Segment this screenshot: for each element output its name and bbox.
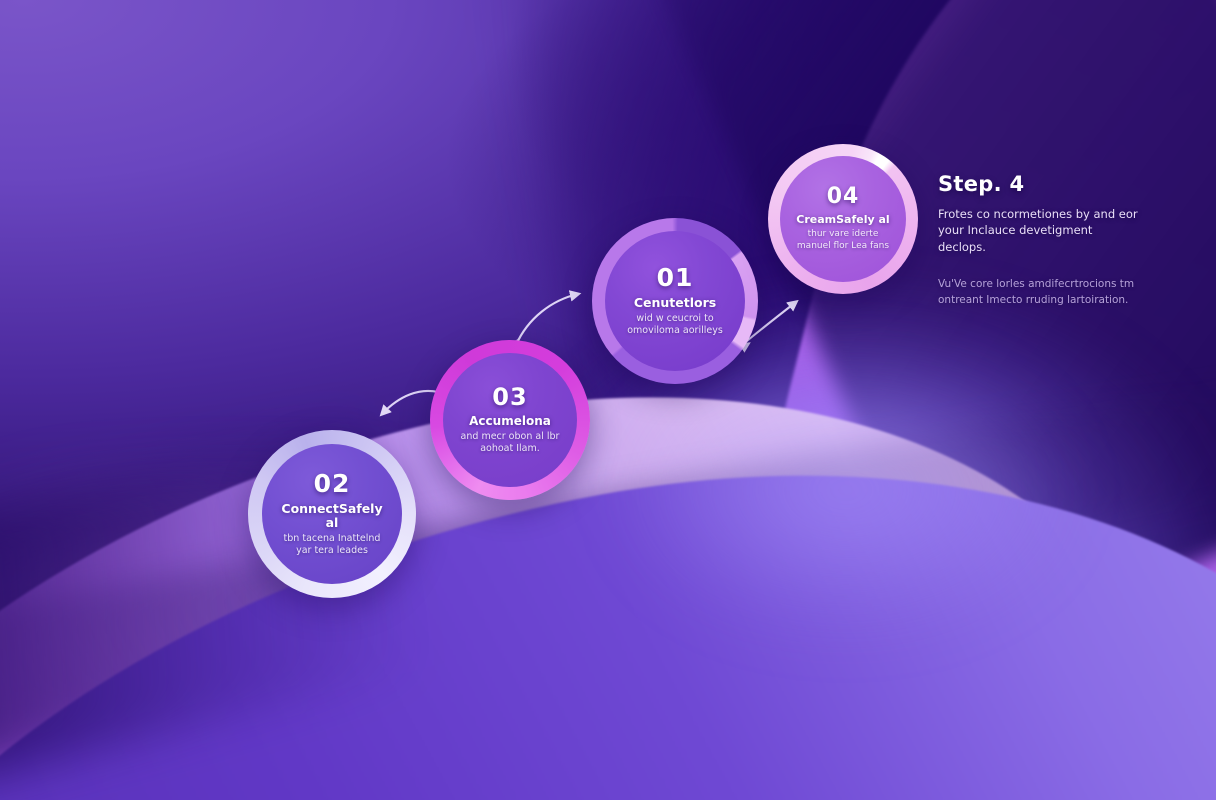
step-detail-note: Vu'Ve core lorles amdifecrtrocions tm on…	[938, 277, 1138, 308]
step-node-04-title: CreamSafely al	[796, 214, 889, 226]
step-node-02-desc: tbn tacena Inattelnd yar tera leades	[276, 533, 388, 557]
step-detail-panel: Step. 4 Frotes co ncormetiones by and eo…	[938, 172, 1138, 308]
step-node-01[interactable]: 01 Cenutetlors wid w ceucroi to omovilom…	[592, 218, 758, 384]
step-node-01-inner: 01 Cenutetlors wid w ceucroi to omovilom…	[605, 231, 745, 371]
step-node-02-inner: 02 ConnectSafely al tbn tacena Inattelnd…	[262, 444, 402, 584]
step-node-03-title: Accumelona	[469, 415, 551, 428]
step-node-01-number: 01	[657, 265, 694, 290]
infographic-canvas: 02 ConnectSafely al tbn tacena Inattelnd…	[0, 0, 1216, 800]
step-node-04-number: 04	[827, 186, 860, 208]
step-node-04[interactable]: 04 CreamSafely al thur vare iderte manue…	[768, 144, 918, 294]
step-node-03[interactable]: 03 Accumelona and mecr obon al lbr aohoa…	[430, 340, 590, 500]
step-node-01-desc: wid w ceucroi to omoviloma aorilleys	[619, 313, 731, 337]
step-node-02[interactable]: 02 ConnectSafely al tbn tacena Inattelnd…	[248, 430, 416, 598]
step-node-03-number: 03	[492, 385, 527, 409]
step-node-04-desc: thur vare iderte manuel flor Lea fans	[794, 229, 892, 252]
step-node-04-inner: 04 CreamSafely al thur vare iderte manue…	[780, 156, 906, 282]
step-detail-title: Step. 4	[938, 172, 1138, 196]
step-node-01-title: Cenutetlors	[634, 296, 716, 310]
step-node-02-title: ConnectSafely al	[276, 502, 388, 530]
step-node-03-desc: and mecr obon al lbr aohoat Ilam.	[457, 431, 563, 455]
step-node-03-inner: 03 Accumelona and mecr obon al lbr aohoa…	[443, 353, 577, 487]
step-detail-body: Frotes co ncormetiones by and eor your I…	[938, 206, 1138, 255]
step-node-02-number: 02	[314, 471, 351, 496]
